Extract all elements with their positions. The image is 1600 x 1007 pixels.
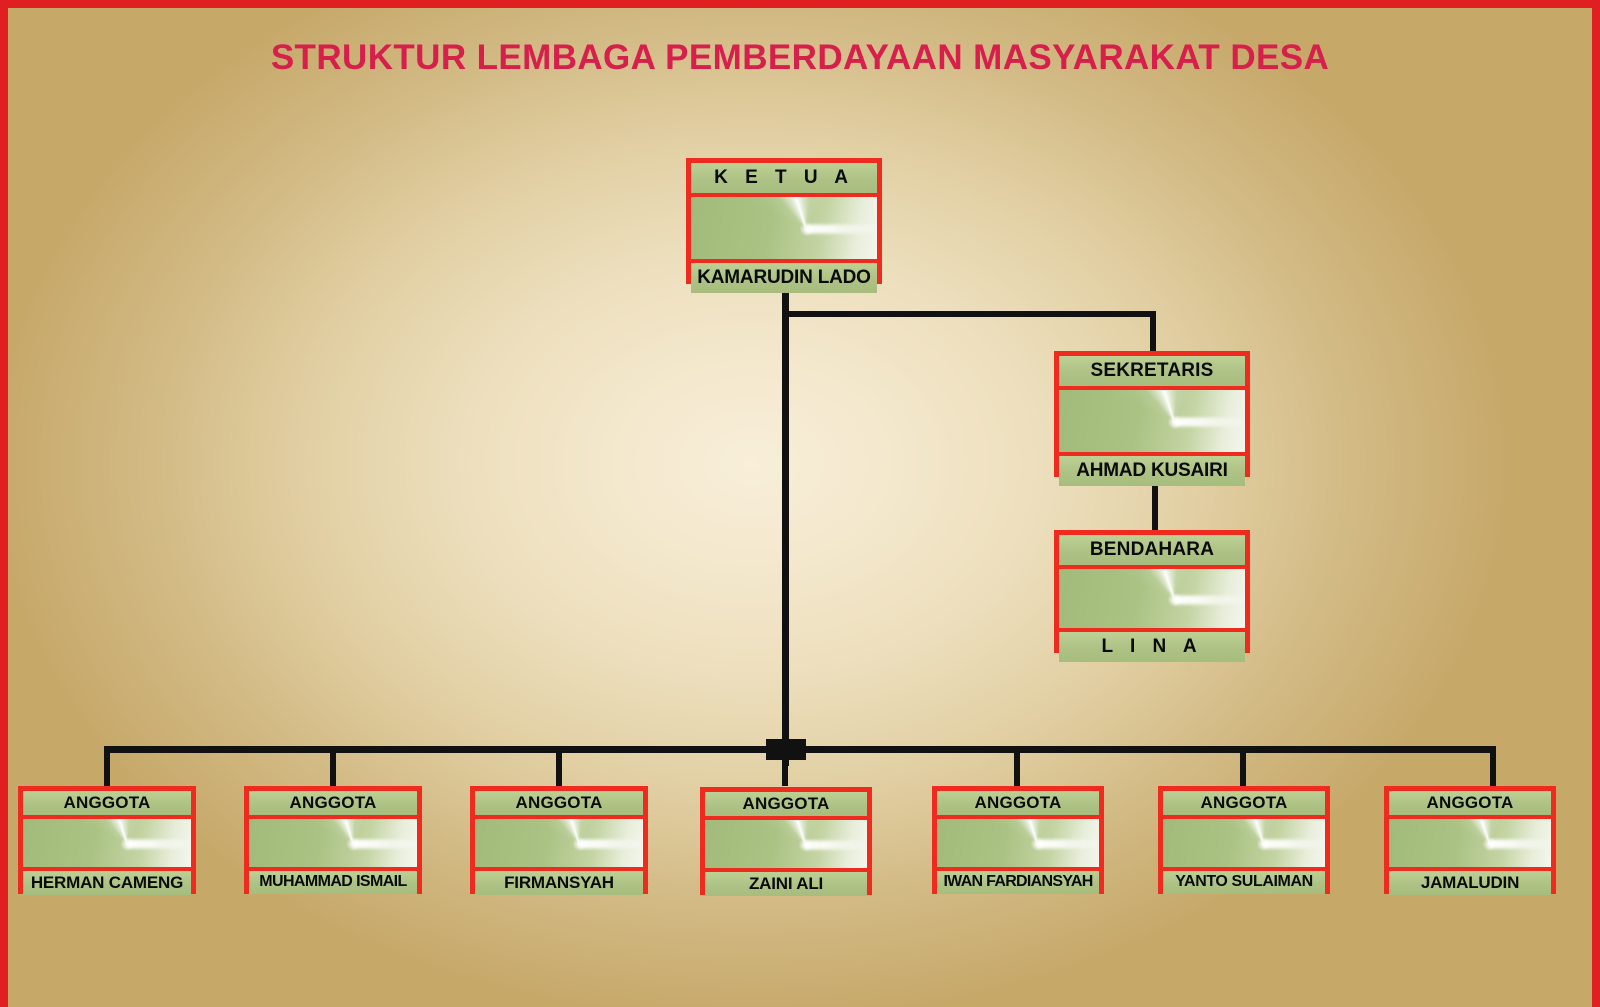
connector-drop-anggota-1: [104, 746, 110, 786]
node-anggota-4-photo: [705, 820, 867, 868]
node-sekretaris-photo: [1059, 390, 1245, 452]
node-anggota-5-role: ANGGOTA: [937, 791, 1099, 815]
node-ketua-name: KAMARUDIN LADO: [691, 263, 877, 293]
page-frame-top: [0, 0, 1600, 8]
org-chart-canvas: STRUKTUR LEMBAGA PEMBERDAYAAN MASYARAKAT…: [0, 0, 1600, 1007]
node-sekretaris-name: AHMAD KUSAIRI: [1059, 456, 1245, 486]
node-bendahara[interactable]: BENDAHARA L I N A: [1054, 530, 1250, 653]
connector-drop-anggota-7: [1490, 746, 1496, 786]
node-anggota-6[interactable]: ANGGOTA YANTO SULAIMAN: [1158, 786, 1330, 894]
node-anggota-5-name: IWAN FARDIANSYAH: [937, 871, 1099, 894]
node-anggota-3-role: ANGGOTA: [475, 791, 643, 815]
node-anggota-6-name: YANTO SULAIMAN: [1163, 871, 1325, 894]
node-ketua[interactable]: K E T U A KAMARUDIN LADO: [686, 158, 882, 284]
connector-ketua-trunk: [782, 284, 789, 766]
connector-junction-block: [766, 739, 806, 760]
node-anggota-3-photo: [475, 819, 643, 867]
connector-ketua-to-sekretaris-horizontal: [782, 311, 1156, 317]
connector-ketua-to-sekretaris-vertical: [1150, 311, 1156, 355]
node-anggota-7-role: ANGGOTA: [1389, 791, 1551, 815]
node-anggota-2[interactable]: ANGGOTA MUHAMMAD ISMAIL: [244, 786, 422, 894]
node-sekretaris[interactable]: SEKRETARIS AHMAD KUSAIRI: [1054, 351, 1250, 477]
node-anggota-5[interactable]: ANGGOTA IWAN FARDIANSYAH: [932, 786, 1104, 894]
connector-drop-anggota-2: [330, 746, 336, 786]
node-anggota-2-role: ANGGOTA: [249, 791, 417, 815]
node-anggota-2-name: MUHAMMAD ISMAIL: [249, 871, 417, 894]
node-anggota-6-photo: [1163, 819, 1325, 867]
node-anggota-7-name: JAMALUDIN: [1389, 871, 1551, 895]
node-bendahara-name: L I N A: [1059, 632, 1245, 662]
page-title: STRUKTUR LEMBAGA PEMBERDAYAAN MASYARAKAT…: [0, 38, 1600, 78]
node-bendahara-photo: [1059, 569, 1245, 628]
node-anggota-4[interactable]: ANGGOTA ZAINI ALI: [700, 787, 872, 895]
node-ketua-role: K E T U A: [691, 163, 877, 193]
node-anggota-1-role: ANGGOTA: [23, 791, 191, 815]
page-frame-left: [0, 0, 8, 1007]
node-anggota-4-name: ZAINI ALI: [705, 872, 867, 896]
node-anggota-1-name: HERMAN CAMENG: [23, 871, 191, 895]
connector-drop-anggota-6: [1240, 746, 1246, 786]
node-anggota-3[interactable]: ANGGOTA FIRMANSYAH: [470, 786, 648, 894]
node-anggota-3-name: FIRMANSYAH: [475, 871, 643, 895]
page-frame-right: [1592, 0, 1600, 1007]
node-bendahara-role: BENDAHARA: [1059, 535, 1245, 565]
node-anggota-6-role: ANGGOTA: [1163, 791, 1325, 815]
node-anggota-5-photo: [937, 819, 1099, 867]
node-anggota-1-photo: [23, 819, 191, 867]
node-anggota-4-role: ANGGOTA: [705, 792, 867, 816]
node-ketua-photo: [691, 197, 877, 259]
node-anggota-1[interactable]: ANGGOTA HERMAN CAMENG: [18, 786, 196, 894]
node-anggota-7-photo: [1389, 819, 1551, 867]
node-anggota-7[interactable]: ANGGOTA JAMALUDIN: [1384, 786, 1556, 894]
node-sekretaris-role: SEKRETARIS: [1059, 356, 1245, 386]
node-anggota-2-photo: [249, 819, 417, 867]
connector-drop-anggota-3: [556, 746, 562, 786]
connector-drop-anggota-5: [1014, 746, 1020, 786]
